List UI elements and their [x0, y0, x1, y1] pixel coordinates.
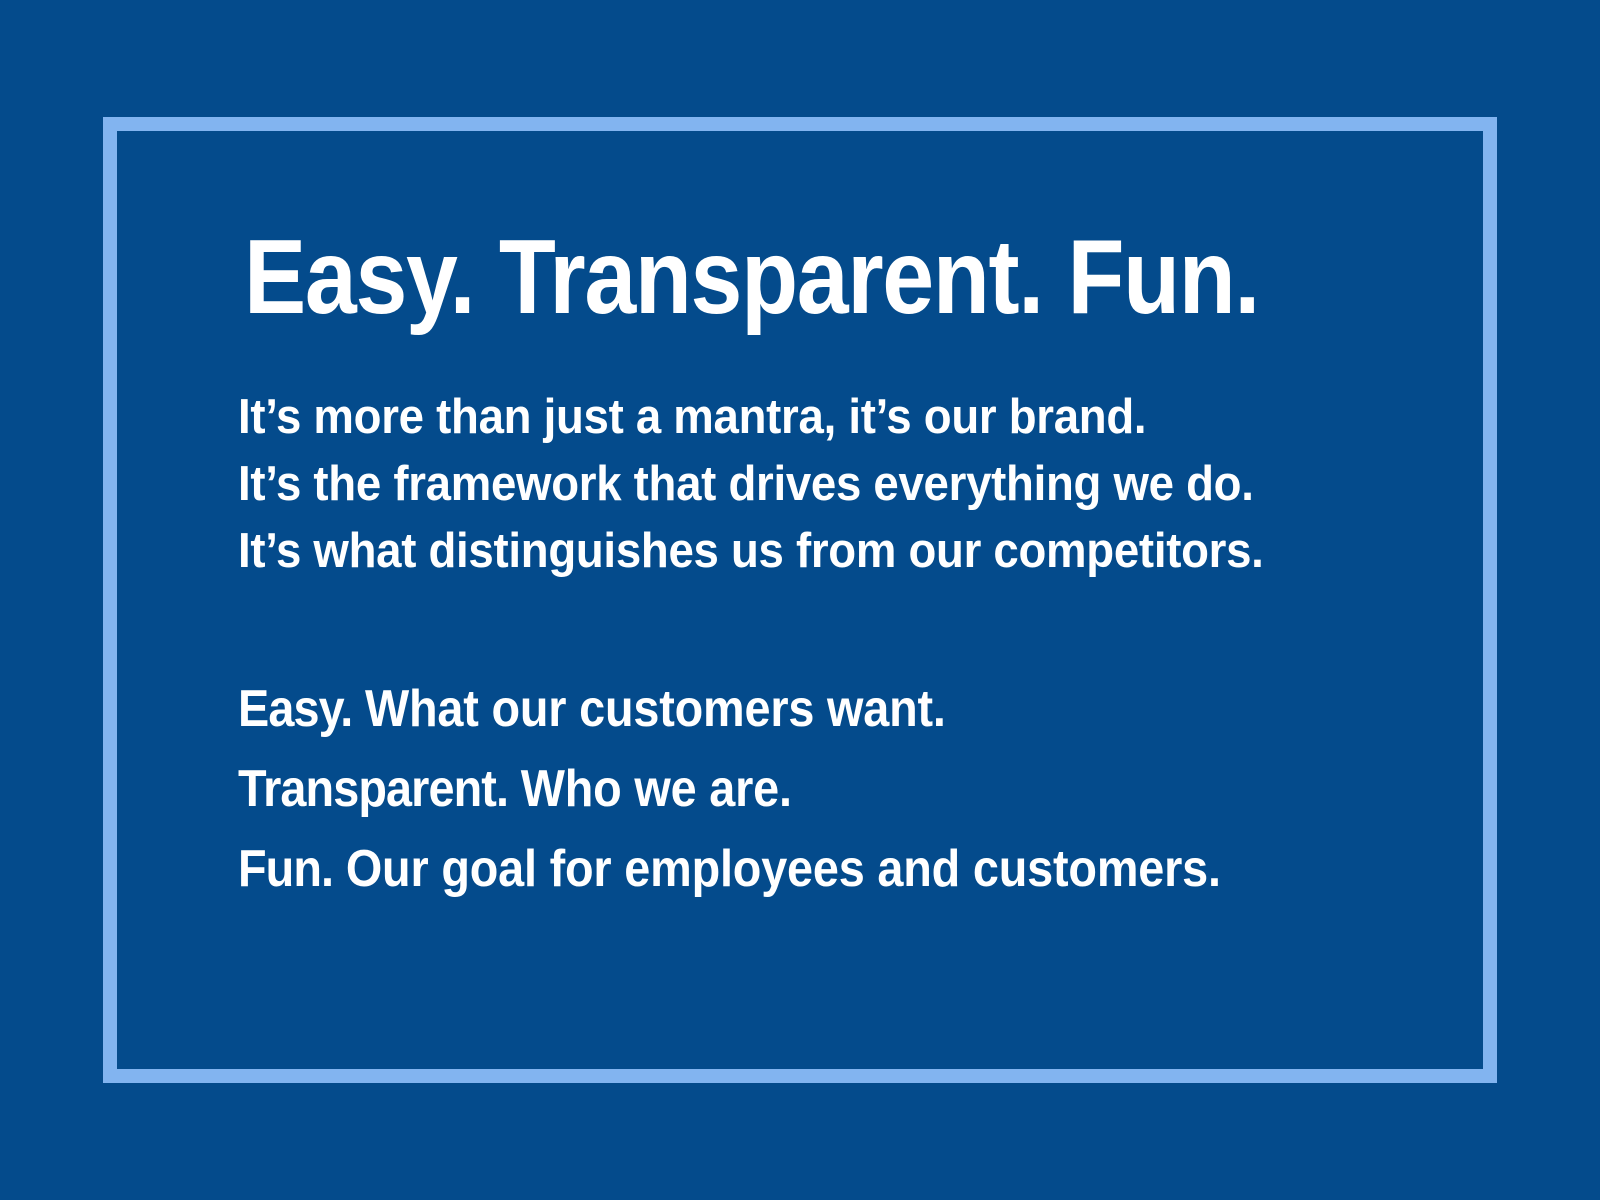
- intro-line-2: It’s the framework that drives everythin…: [238, 451, 1335, 518]
- intro-paragraph: It’s more than just a mantra, it’s our b…: [238, 384, 1418, 585]
- definition-list: Easy. What our customers want. Transpare…: [238, 669, 1418, 909]
- brand-mantra-slide: Easy. Transparent. Fun. It’s more than j…: [0, 0, 1600, 1200]
- definition-item-fun: Fun. Our goal for employees and customer…: [238, 829, 1300, 909]
- intro-line-3: It’s what distinguishes us from our comp…: [238, 518, 1335, 585]
- definition-term-fun: Fun.: [238, 840, 333, 898]
- definition-term-transparent: Transparent.: [238, 760, 508, 818]
- intro-line-1: It’s more than just a mantra, it’s our b…: [238, 384, 1335, 451]
- page-title: Easy. Transparent. Fun.: [244, 222, 1277, 332]
- definition-item-easy: Easy. What our customers want.: [238, 669, 1300, 749]
- definition-description-fun: Our goal for employees and customers.: [346, 840, 1221, 898]
- definition-item-transparent: Transparent. Who we are.: [238, 749, 1300, 829]
- definition-description-easy: What our customers want.: [365, 680, 946, 738]
- definition-description-transparent: Who we are.: [521, 760, 792, 818]
- slide-content: Easy. Transparent. Fun. It’s more than j…: [238, 222, 1418, 909]
- definition-term-easy: Easy.: [238, 680, 352, 738]
